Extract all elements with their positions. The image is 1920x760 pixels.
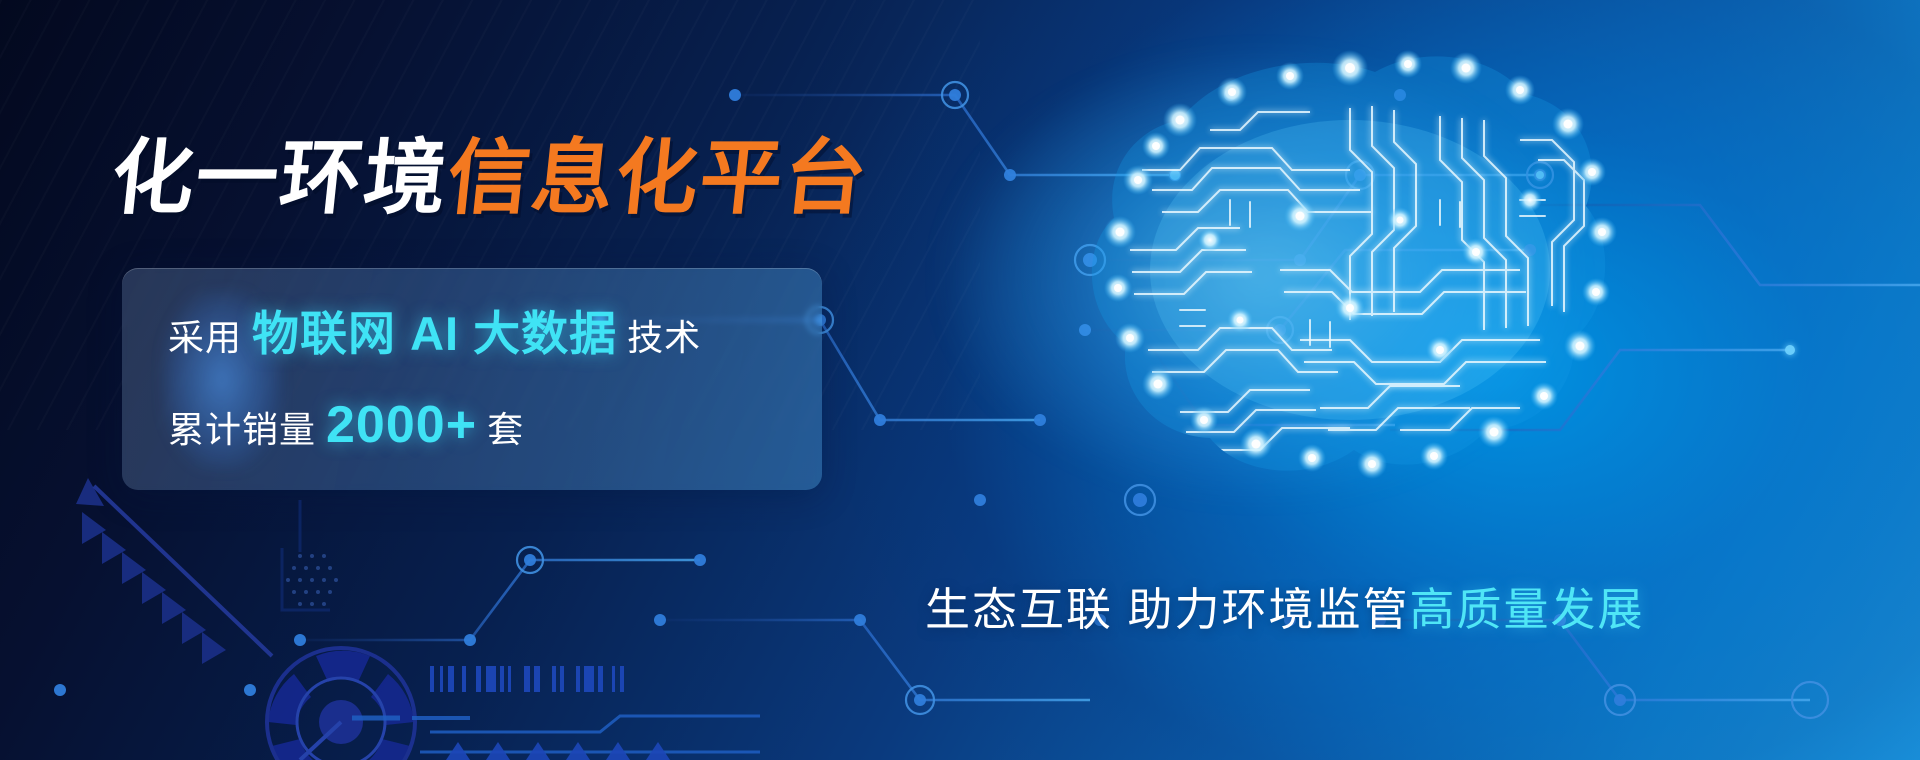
card-line1-prefix: 采用 (168, 317, 242, 358)
barcode-bars-icon (430, 666, 624, 692)
headline-white: 化一环境 (107, 131, 453, 226)
page-title: 化一环境信息化平台 (108, 138, 873, 220)
arrow-chevrons-icon (76, 478, 226, 664)
card-line2-highlight: 2000+ (326, 396, 477, 454)
hud-panel-outline (282, 500, 330, 610)
info-card: 采用物联网 AI 大数据技术 累计销量2000+套 (122, 268, 822, 490)
circuit-brain-icon (880, 20, 1640, 540)
card-line2-prefix: 累计销量 (168, 409, 316, 450)
card-line2-suffix: 套 (487, 409, 524, 450)
promo-banner: 化一环境信息化平台 采用物联网 AI 大数据技术 累计销量2000+套 生态互联… (0, 0, 1920, 760)
card-line1-highlight: 物联网 AI 大数据 (252, 307, 617, 360)
headline-orange: 信息化平台 (443, 131, 873, 226)
radial-dial-icon (267, 648, 415, 760)
hud-decor-layer (0, 460, 760, 760)
tagline: 生态互联 助力环境监管高质量发展 (925, 587, 1645, 632)
card-line1-suffix: 技术 (627, 317, 701, 358)
tagline-cyan: 高质量发展 (1410, 584, 1645, 635)
card-line-sales: 累计销量2000+套 (168, 399, 822, 451)
hud-chevrons-row-icon (446, 742, 670, 760)
tagline-white: 生态互联 助力环境监管 (925, 584, 1410, 635)
card-line-technology: 采用物联网 AI 大数据技术 (168, 310, 822, 357)
